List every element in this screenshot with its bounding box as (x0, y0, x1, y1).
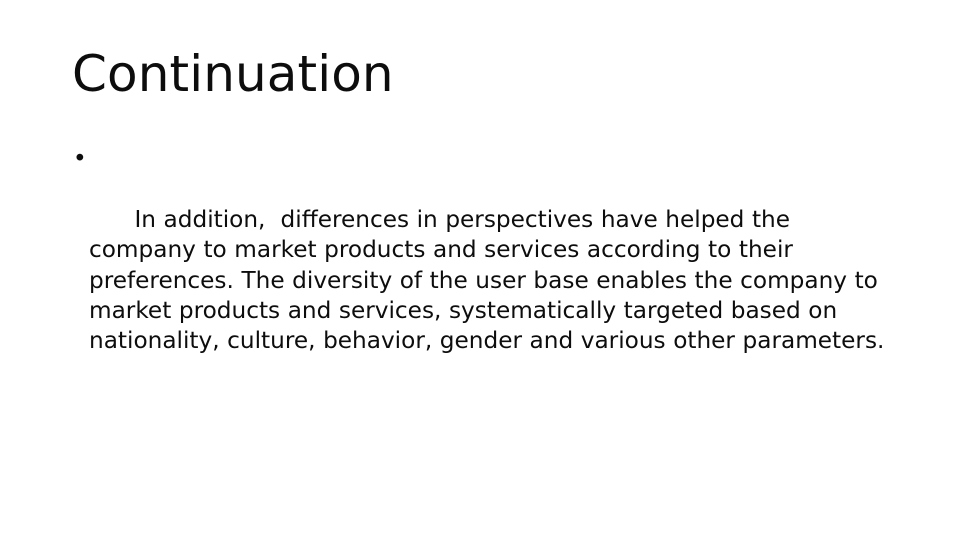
list-item: • In addition, differences in perspectiv… (72, 144, 892, 387)
list-item-text: In addition, differences in perspectives… (89, 206, 885, 355)
slide-canvas: Continuation • In addition, differences … (0, 0, 961, 540)
slide-body-content: • In addition, differences in perspectiv… (72, 144, 892, 387)
page-title: Continuation (72, 46, 892, 102)
bullet-point-icon: • (73, 144, 87, 174)
